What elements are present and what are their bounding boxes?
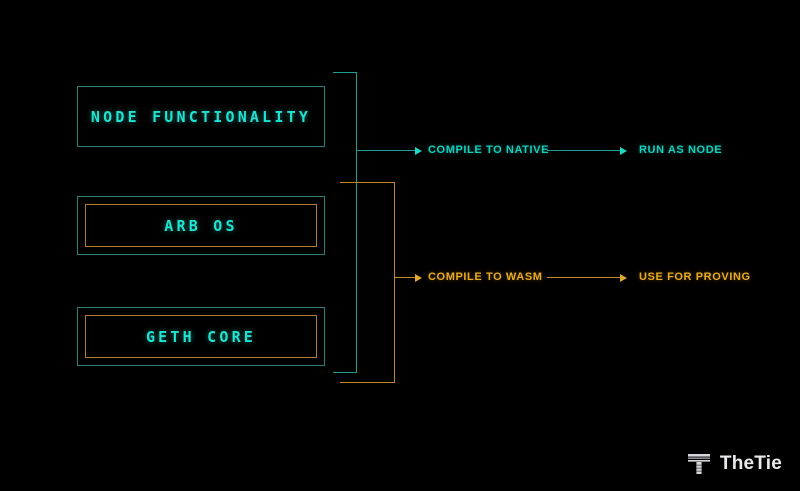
flow-result-label-run-as-node: RUN AS NODE: [639, 144, 722, 156]
stack-box-label: ARB OS: [78, 217, 324, 235]
brand-name: TheTie: [720, 453, 782, 475]
stack-box-arb-os: ARB OS: [77, 196, 325, 255]
amber-bracket-bottom-stub: [340, 382, 395, 383]
amber-bracket-spine: [394, 182, 395, 383]
teal-bracket-outflow: [356, 150, 420, 151]
diagram-canvas: NODE FUNCTIONALITY ARB OS GETH CORE COMP…: [0, 0, 800, 491]
teal-arrowhead-2: [620, 147, 627, 155]
stack-box-label: GETH CORE: [78, 328, 324, 346]
flow-result-label-use-for-proving: USE FOR PROVING: [639, 271, 751, 283]
stack-box-label: NODE FUNCTIONALITY: [78, 108, 324, 126]
stack-box-node-functionality: NODE FUNCTIONALITY: [77, 86, 325, 147]
amber-mid-connector: [547, 277, 625, 278]
teal-mid-connector: [547, 150, 625, 151]
flow-step-label-wasm: COMPILE TO WASM: [428, 271, 543, 283]
teal-arrowhead-1: [415, 147, 422, 155]
bolt-t-icon: [686, 451, 712, 477]
teal-bracket-top-stub: [333, 72, 357, 73]
amber-bracket-top-stub: [340, 182, 395, 183]
amber-arrowhead-1: [415, 274, 422, 282]
stack-box-geth-core: GETH CORE: [77, 307, 325, 366]
teal-bracket-spine: [356, 72, 357, 373]
teal-bracket-bottom-stub: [333, 372, 357, 373]
brand-logo: TheTie: [686, 451, 782, 477]
flow-step-label-native: COMPILE TO NATIVE: [428, 144, 549, 156]
amber-arrowhead-2: [620, 274, 627, 282]
